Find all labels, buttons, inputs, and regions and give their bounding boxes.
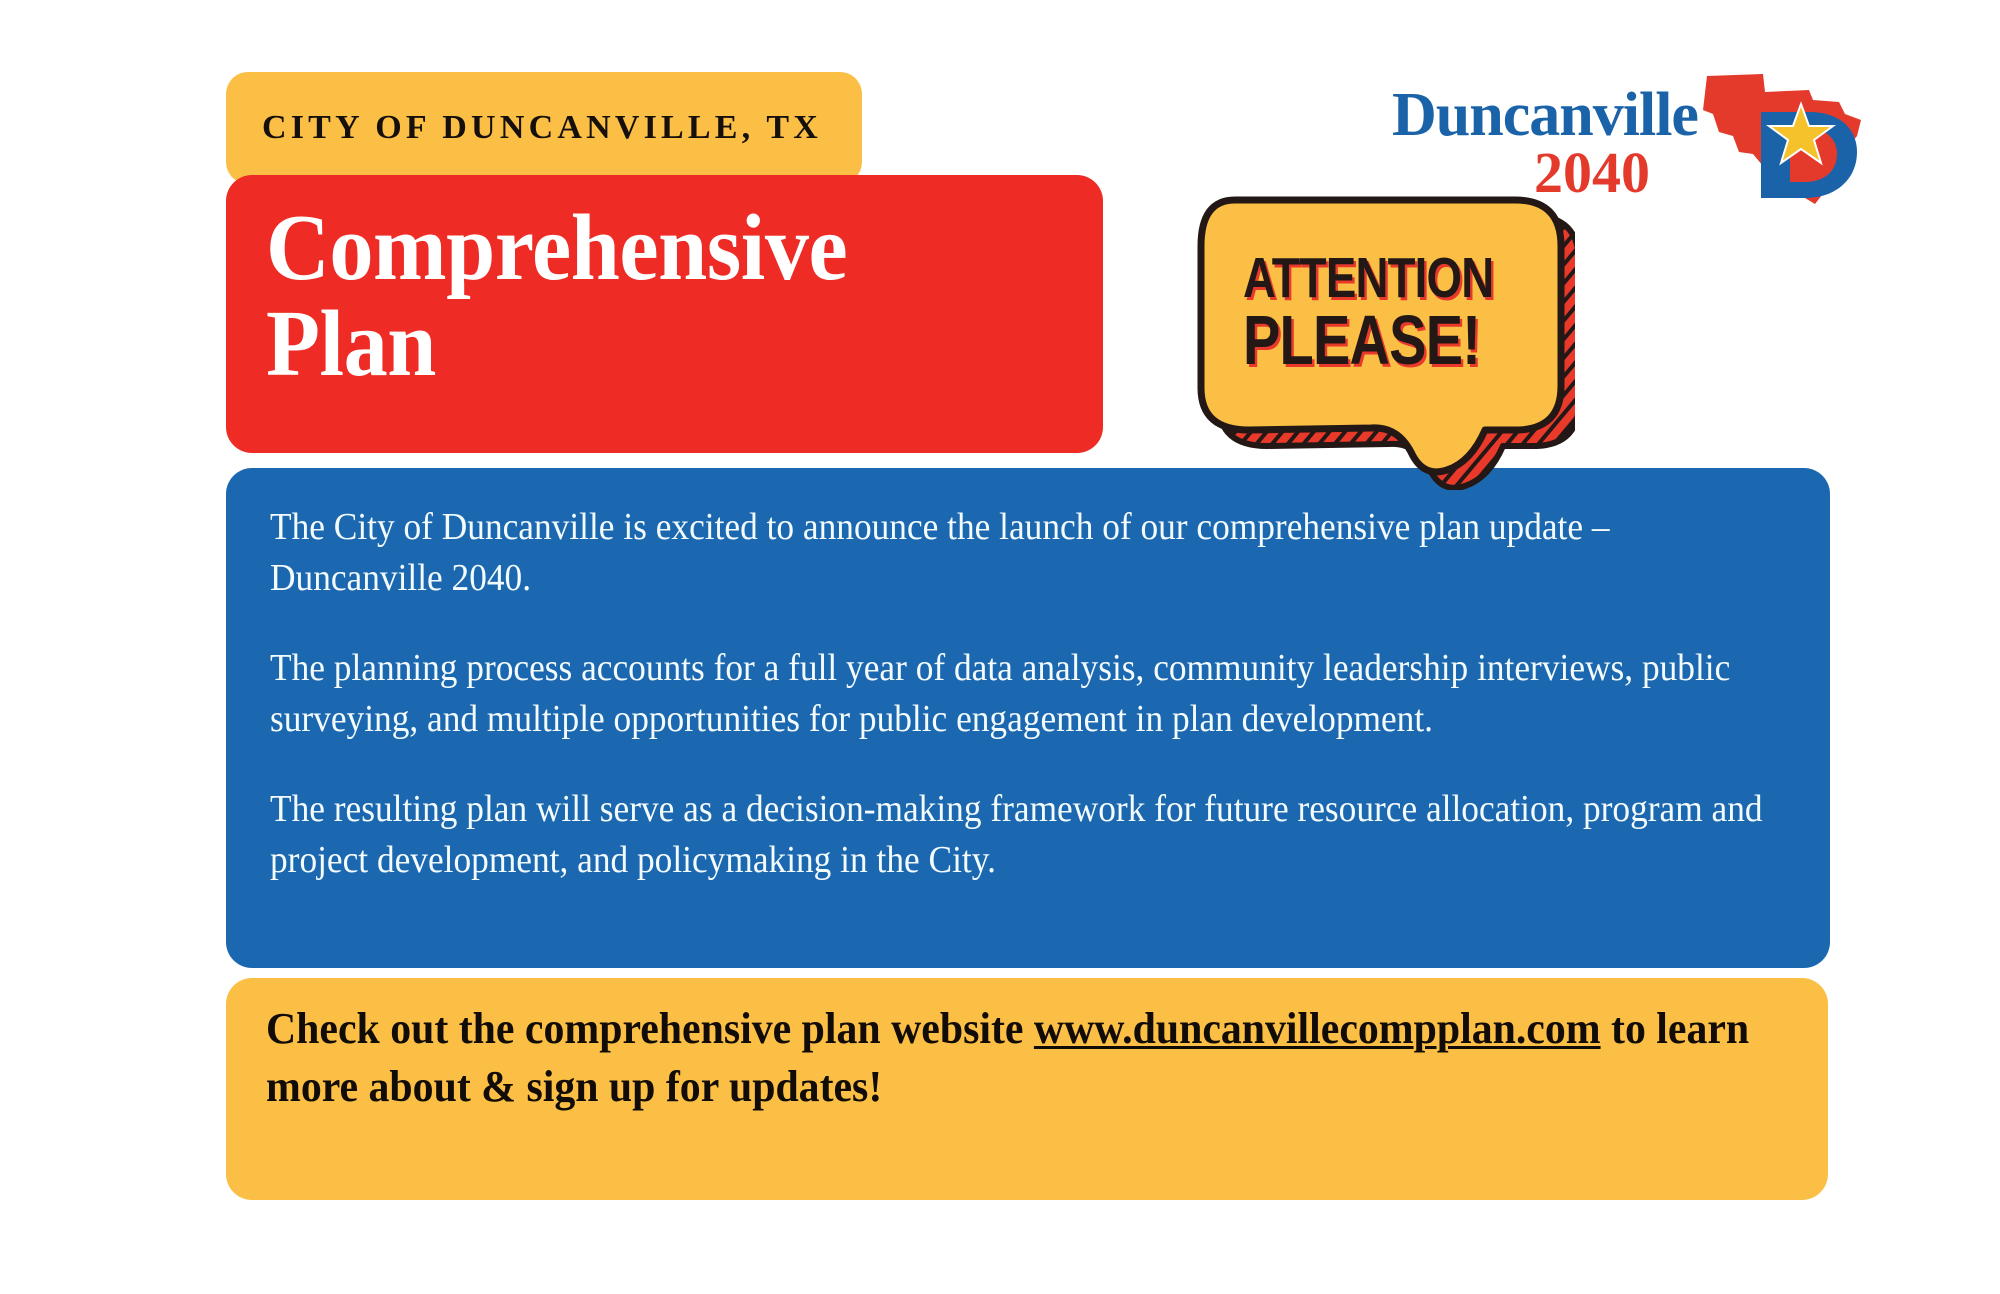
texas-d-star-icon [1689, 70, 1889, 210]
attention-please-bubble: ATTENTION PLEASE! [1185, 190, 1575, 490]
logo-wordmark: Duncanville [1392, 84, 1698, 146]
cta-text: Check out the comprehensive plan website… [266, 1000, 1784, 1116]
body-paragraph-1: The City of Duncanville is excited to an… [270, 502, 1779, 603]
page-title-block: Comprehensive Plan [226, 175, 1103, 453]
comp-plan-website-link[interactable]: www.duncanvillecompplan.com [1034, 1004, 1601, 1053]
page-title-line-1: Comprehensive [266, 201, 1015, 297]
cta-prefix: Check out the comprehensive plan website [266, 1004, 1034, 1053]
duncanville-2040-logo: Duncanville 2040 [1392, 62, 1884, 207]
page-title: Comprehensive Plan [266, 201, 1015, 393]
bubble-shape-icon [1185, 190, 1575, 490]
cta-banner: Check out the comprehensive plan website… [226, 978, 1828, 1200]
city-tab: CITY OF DUNCANVILLE, TX [226, 72, 862, 184]
body-paragraph-3: The resulting plan will serve as a decis… [270, 784, 1779, 885]
body-panel: The City of Duncanville is excited to an… [226, 468, 1830, 968]
city-tab-label: CITY OF DUNCANVILLE, TX [262, 109, 822, 147]
body-paragraph-2: The planning process accounts for a full… [270, 643, 1779, 744]
page-title-line-2: Plan [266, 297, 1015, 393]
